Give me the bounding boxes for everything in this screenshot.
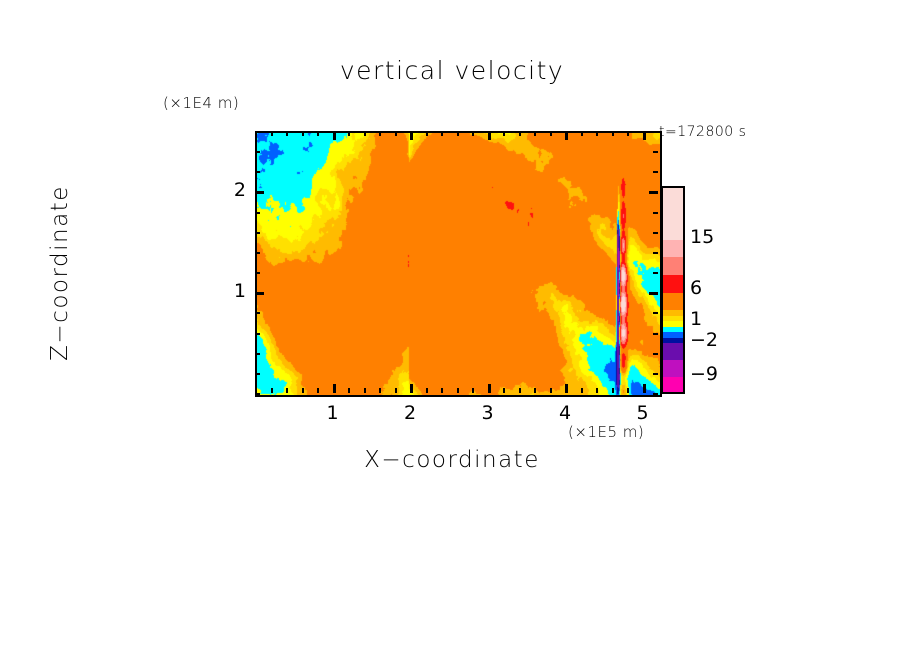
tick-mark [348,131,350,136]
colorbar-band [663,377,683,392]
tick-mark [472,131,474,136]
tick-mark [441,131,443,136]
tick-mark [488,131,491,140]
tick-mark [255,292,264,295]
tick-mark [653,373,658,375]
tick-mark [643,384,646,393]
tick-mark [410,384,413,393]
colorbar-tick-label: −9 [690,363,718,385]
tick-mark [519,131,521,136]
tick-mark [286,388,288,393]
tick-mark [441,388,443,393]
tick-mark [612,388,614,393]
colorbar-band [663,188,683,240]
tick-mark [255,232,260,234]
tick-mark [653,333,658,335]
tick-mark [653,151,658,153]
tick-mark [519,388,521,393]
colorbar-band [663,275,683,293]
tick-mark [550,388,552,393]
x-tick-label: 3 [468,402,508,424]
tick-mark [333,384,336,393]
tick-mark [550,131,552,136]
colorbar [661,186,685,394]
tick-mark [534,388,536,393]
tick-mark [612,131,614,136]
tick-mark [534,131,536,136]
tick-mark [255,312,260,314]
colorbar-tick-label: −2 [690,329,718,351]
tick-mark [627,131,629,136]
tick-mark [653,312,658,314]
tick-mark [503,131,505,136]
tick-mark [488,384,491,393]
tick-mark [333,131,336,140]
time-annotation: t=172800 s [659,124,746,140]
tick-mark [395,131,397,136]
tick-mark [379,388,381,393]
x-tick-label: 1 [313,402,353,424]
y-tick-label: 1 [206,280,246,302]
colorbar-tick-label: 15 [690,226,714,248]
tick-mark [653,212,658,214]
tick-mark [271,388,273,393]
tick-mark [317,388,319,393]
tick-mark [565,131,568,140]
velocity-field-canvas [257,133,660,395]
tick-mark [255,272,260,274]
colorbar-band [663,293,683,310]
tick-mark [649,191,658,194]
colorbar-band [663,240,683,257]
colorbar-tick-label: 1 [690,308,702,330]
tick-mark [255,191,264,194]
tick-mark [649,292,658,295]
tick-mark [255,353,260,355]
tick-mark [457,131,459,136]
tick-mark [653,232,658,234]
tick-mark [255,333,260,335]
tick-mark [317,131,319,136]
tick-mark [426,388,428,393]
tick-mark [653,393,658,395]
tick-mark [395,388,397,393]
tick-mark [653,131,658,133]
tick-mark [271,131,273,136]
y-axis-title: Z−coordinate [47,123,73,423]
colorbar-band [663,360,683,376]
x-tick-label: 2 [390,402,430,424]
tick-mark [581,131,583,136]
colorbar-band [663,343,683,360]
tick-mark [426,131,428,136]
tick-mark [653,353,658,355]
tick-mark [348,388,350,393]
tick-mark [653,272,658,274]
tick-mark [379,131,381,136]
tick-mark [457,388,459,393]
tick-mark [255,212,260,214]
tick-mark [581,388,583,393]
tick-mark [255,373,260,375]
tick-mark [596,131,598,136]
x-tick-label: 4 [545,402,585,424]
colorbar-band [663,257,683,274]
tick-mark [627,388,629,393]
tick-mark [255,171,260,173]
tick-mark [255,252,260,254]
tick-mark [255,393,260,395]
x-tick-label: 5 [623,402,663,424]
tick-mark [565,384,568,393]
x-axis-unit-label: (×1E5 m) [568,423,644,441]
tick-mark [472,388,474,393]
tick-mark [286,131,288,136]
tick-mark [653,171,658,173]
tick-mark [302,388,304,393]
page-title: vertical velocity [0,56,904,85]
tick-mark [364,388,366,393]
colorbar-tick-label: 6 [690,277,702,299]
z-axis-unit-label: (×1E4 m) [163,94,239,112]
tick-mark [596,388,598,393]
tick-mark [643,131,646,140]
tick-mark [302,131,304,136]
contour-plot-area [255,131,662,397]
tick-mark [255,131,260,133]
tick-mark [255,151,260,153]
tick-mark [653,252,658,254]
tick-mark [410,131,413,140]
tick-mark [503,388,505,393]
tick-mark [364,131,366,136]
y-tick-label: 2 [206,179,246,201]
x-axis-title: X−coordinate [0,447,904,473]
